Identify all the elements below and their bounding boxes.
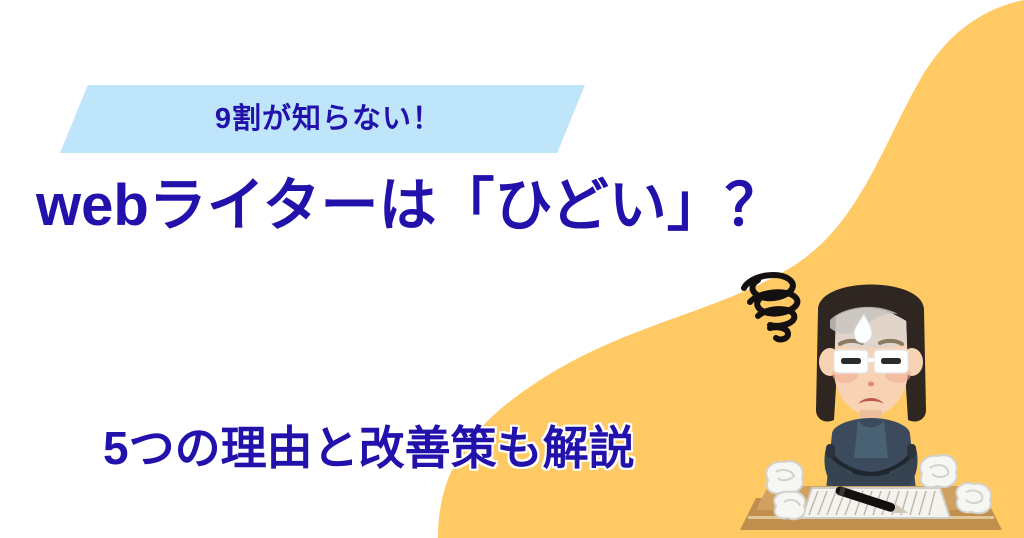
crumpled-paper-left: [766, 461, 803, 493]
crumpled-paper-right: [920, 455, 957, 487]
illustration-troubled-writer: [726, 258, 1016, 538]
banner-ribbon: 9割が知らない！: [60, 85, 585, 153]
eye-right: [881, 358, 901, 364]
page-subtitle: 5つの理由と改善策も解説: [103, 424, 635, 472]
crumpled-paper-right-lower: [956, 483, 991, 513]
crumpled-paper-left-lower: [774, 492, 805, 520]
stress-scribble-icon: [744, 275, 797, 339]
thumbnail-canvas: 9割が知らない！ webライターは「ひどい」？ 5つの理由と改善策も解説: [0, 0, 1024, 538]
nose: [868, 382, 874, 387]
banner-label: 9割が知らない！: [215, 105, 442, 134]
eye-left: [841, 358, 861, 364]
page-title: webライターは「ひどい」？: [36, 176, 783, 237]
